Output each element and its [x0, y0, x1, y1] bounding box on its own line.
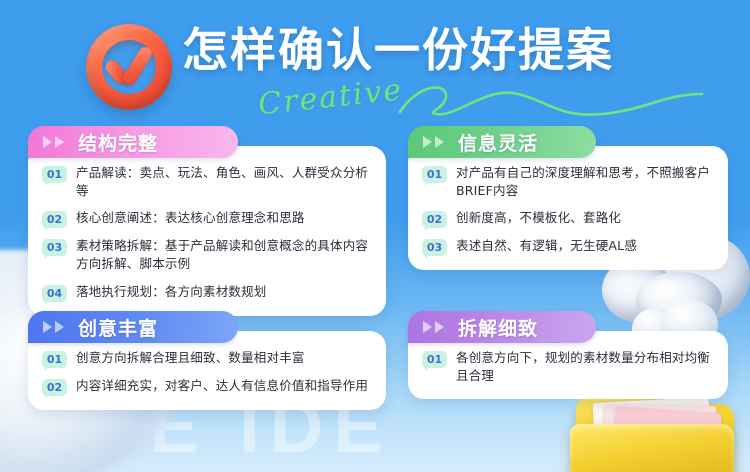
item-text: 素材策略拆解：基于产品解读和创意概念的具体内容方向拆解、脚本示例 [76, 237, 370, 273]
card-creative-header: 创意丰富 [28, 311, 238, 343]
list-item: 02 内容详细充实，对客户、达人有信息价值和指导作用 [42, 377, 370, 396]
item-text: 对产品有自己的深度理解和思考，不照搬客户BRIEF内容 [456, 164, 712, 200]
list-item: 02 核心创意阐述：表达核心创意理念和思路 [42, 209, 370, 228]
card-info: 信息灵活 01 对产品有自己的深度理解和思考，不照搬客户BRIEF内容 02 创… [408, 126, 728, 270]
item-number-badge: 01 [42, 351, 67, 368]
list-item: 01 创意方向拆解合理且细致、数量相对丰富 [42, 349, 370, 368]
card-detail-title: 拆解细致 [458, 314, 538, 341]
item-text: 核心创意阐述：表达核心创意理念和思路 [76, 209, 305, 227]
card-creative: 创意丰富 01 创意方向拆解合理且细致、数量相对丰富 02 内容详细充实，对客户… [28, 311, 386, 410]
list-item: 01 各创意方向下，规划的素材数量分布相对均衡且合理 [422, 349, 712, 385]
double-chevron-right-icon [422, 320, 448, 334]
card-structure-body: 01 产品解读：卖点、玩法、角色、画风、人群受众分析等 02 核心创意阐述：表达… [28, 146, 386, 316]
item-number-badge: 01 [42, 166, 67, 183]
item-number-badge: 01 [422, 166, 447, 183]
creative-script-decoration: Creative [250, 78, 710, 126]
list-item: 01 对产品有自己的深度理解和思考，不照搬客户BRIEF内容 [422, 164, 712, 200]
list-item: 03 表述自然、有逻辑，无生硬AL感 [422, 237, 712, 256]
card-creative-title: 创意丰富 [78, 314, 158, 341]
item-number-badge: 03 [422, 239, 447, 256]
item-text: 表述自然、有逻辑，无生硬AL感 [456, 237, 637, 255]
card-structure-title: 结构完整 [78, 129, 158, 156]
item-number-badge: 02 [42, 211, 67, 228]
double-chevron-right-icon [422, 135, 448, 149]
double-chevron-right-icon [42, 320, 68, 334]
card-detail-header: 拆解细致 [408, 311, 596, 343]
item-number-badge: 04 [42, 285, 67, 302]
list-item: 03 素材策略拆解：基于产品解读和创意概念的具体内容方向拆解、脚本示例 [42, 237, 370, 273]
item-number-badge: 02 [422, 211, 447, 228]
item-number-badge: 01 [422, 351, 447, 368]
item-text: 创新度高，不模板化、套路化 [456, 209, 621, 227]
card-info-header: 信息灵活 [408, 126, 596, 158]
list-item: 04 落地执行规划：各方向素材数规划 [42, 283, 370, 302]
item-number-badge: 02 [42, 379, 67, 396]
page-title: 怎样确认一份好提案 [182, 22, 614, 80]
item-text: 产品解读：卖点、玩法、角色、画风、人群受众分析等 [76, 164, 370, 200]
item-number-badge: 03 [42, 239, 67, 256]
card-info-body: 01 对产品有自己的深度理解和思考，不照搬客户BRIEF内容 02 创新度高，不… [408, 146, 728, 270]
list-item: 02 创新度高，不模板化、套路化 [422, 209, 712, 228]
item-text: 各创意方向下，规划的素材数量分布相对均衡且合理 [456, 349, 712, 385]
logo-checkmark [108, 50, 158, 88]
card-info-title: 信息灵活 [458, 129, 538, 156]
check-ring-icon [80, 20, 178, 112]
double-chevron-right-icon [42, 135, 68, 149]
list-item: 01 产品解读：卖点、玩法、角色、画风、人群受众分析等 [42, 164, 370, 200]
item-text: 创意方向拆解合理且细致、数量相对丰富 [76, 349, 305, 367]
page-header: 怎样确认一份好提案 Creative [0, 0, 750, 128]
card-detail: 拆解细致 01 各创意方向下，规划的素材数量分布相对均衡且合理 [408, 311, 728, 399]
item-text: 落地执行规划：各方向素材数规划 [76, 283, 267, 301]
folder-front-panel [570, 424, 734, 472]
card-structure-header: 结构完整 [28, 126, 238, 158]
item-text: 内容详细充实，对客户、达人有信息价值和指导作用 [76, 377, 368, 395]
card-structure: 结构完整 01 产品解读：卖点、玩法、角色、画风、人群受众分析等 02 核心创意… [28, 126, 386, 316]
